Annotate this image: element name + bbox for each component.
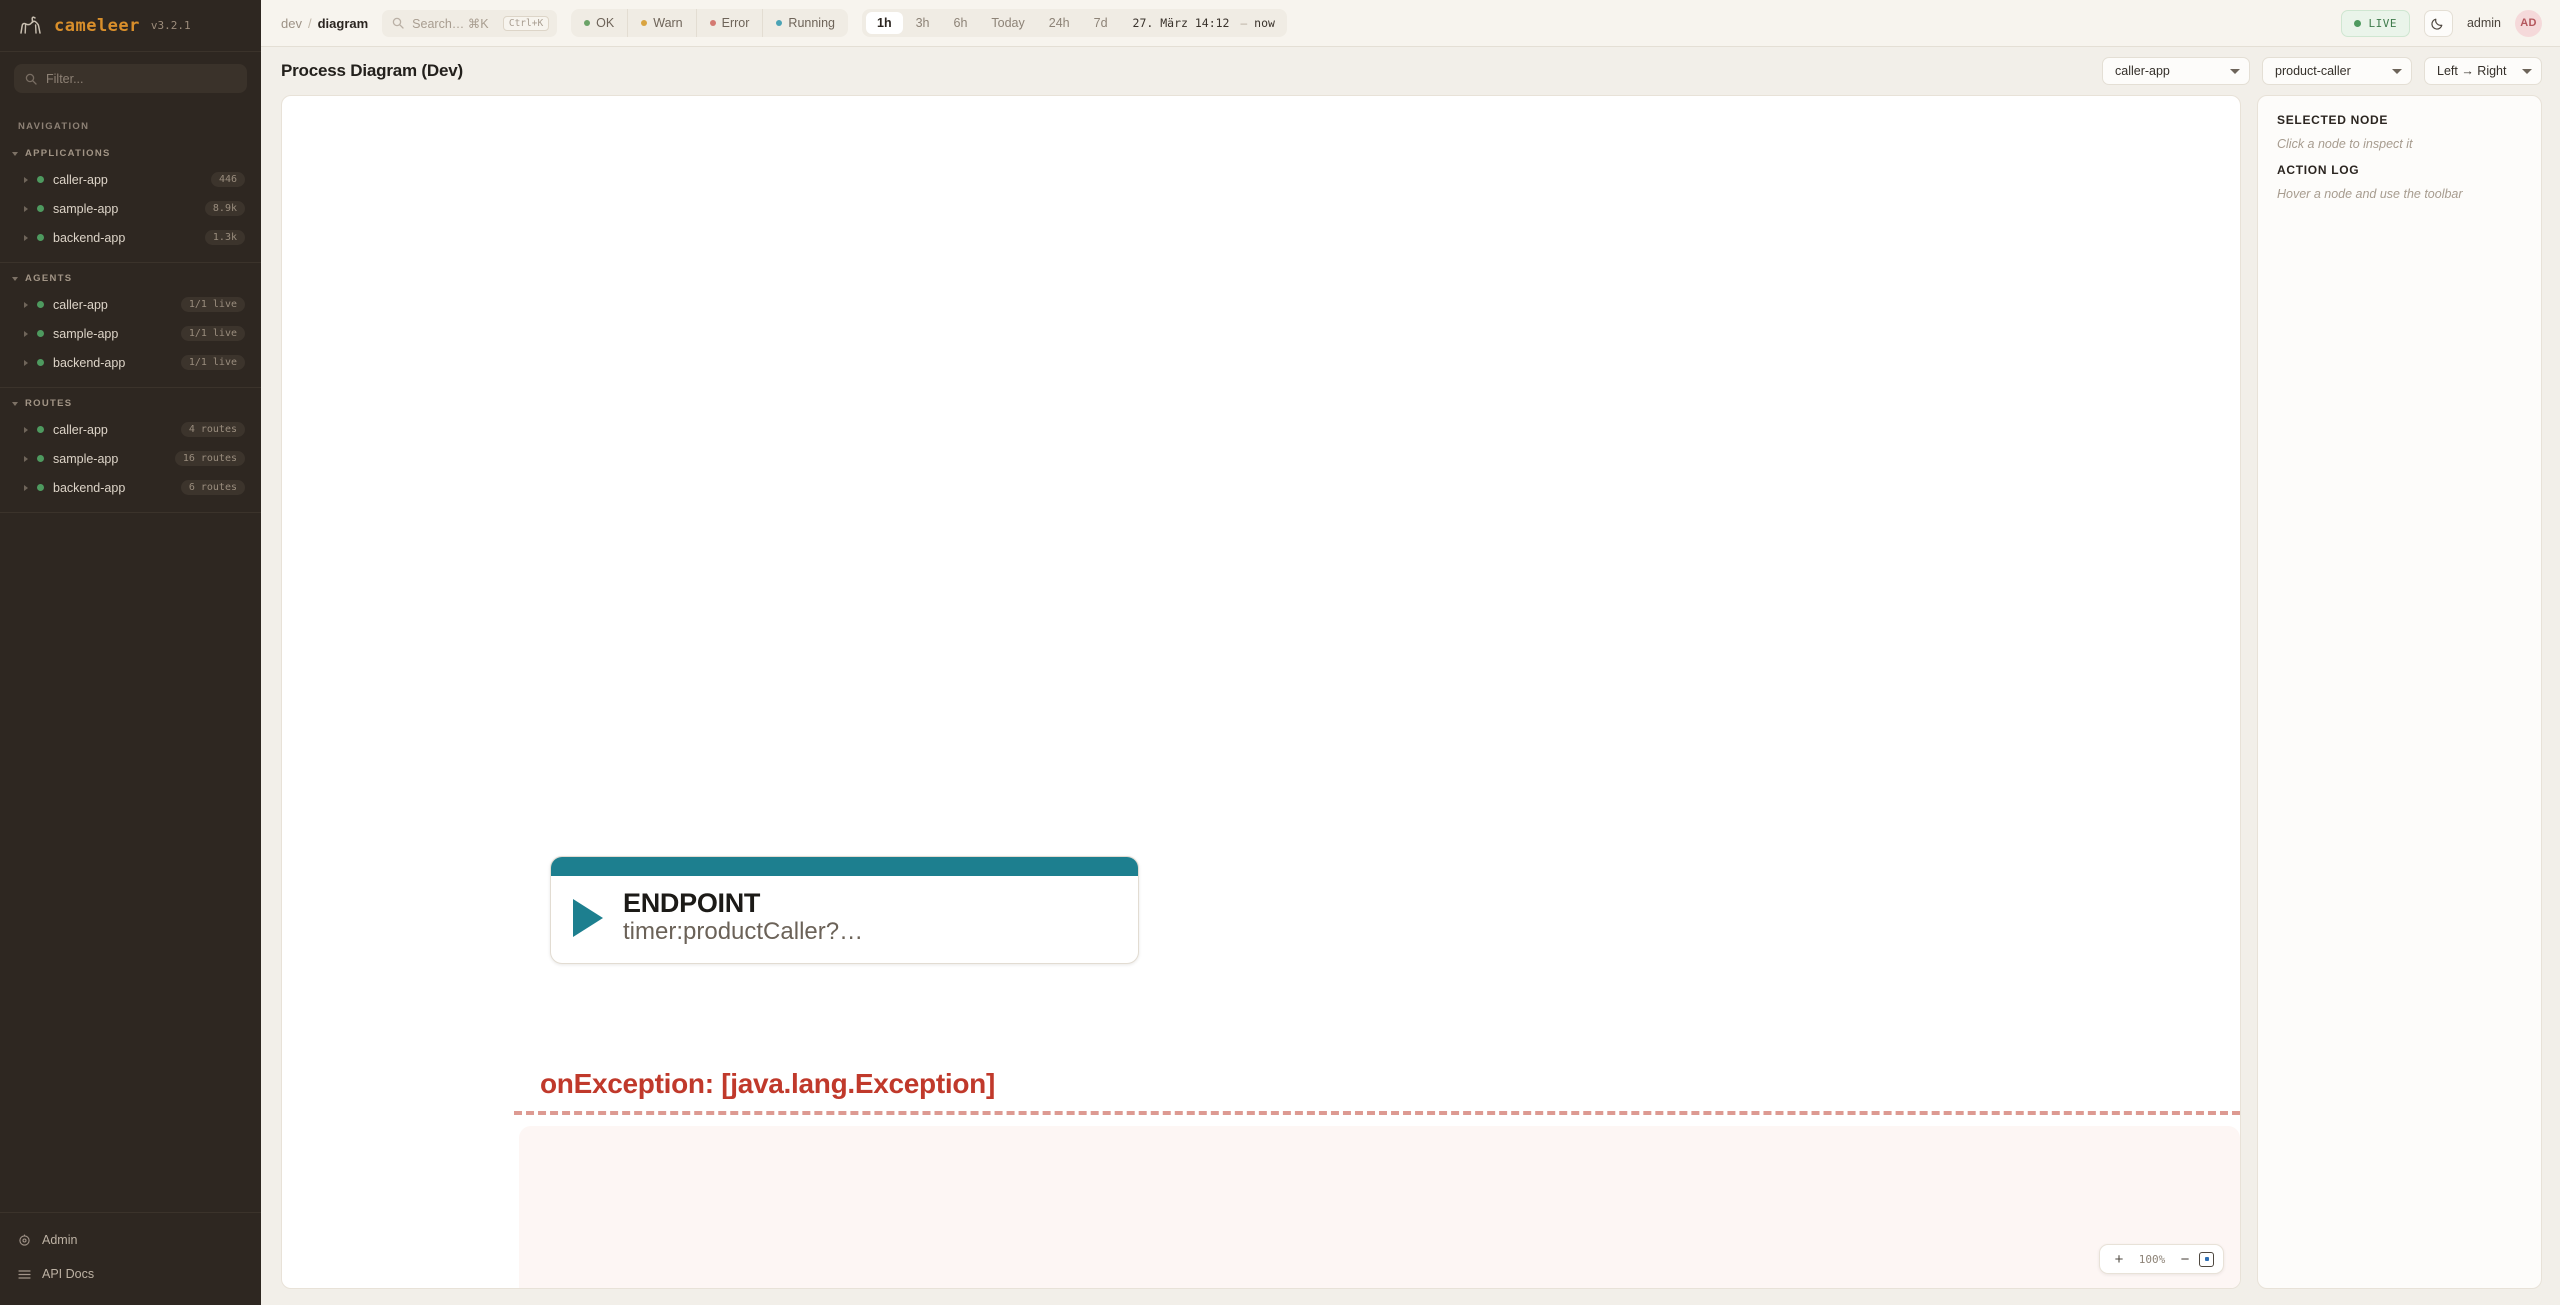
node-header (551, 857, 1138, 876)
live-label: LIVE (2368, 17, 2397, 30)
range-24h[interactable]: 24h (1038, 12, 1081, 34)
sidebar-filter-wrap (0, 52, 261, 103)
sidebar-filter[interactable] (14, 64, 247, 93)
sidebar-group-routes: ROUTES caller-app 4 routes sample-app 16… (0, 388, 261, 513)
breadcrumb-root[interactable]: dev (281, 16, 302, 31)
sidebar-item-admin[interactable]: Admin (0, 1223, 261, 1257)
direction-select[interactable]: Left → Right (2424, 57, 2542, 85)
status-filter-label: OK (596, 16, 614, 30)
group-label: AGENTS (25, 273, 72, 284)
chevron-right-icon (24, 360, 28, 366)
node-kind: ENDPOINT (623, 889, 863, 917)
node-body: ENDPOINT timer:productCaller?… (551, 876, 1138, 963)
chevron-right-icon (24, 331, 28, 337)
item-badge: 1/1 live (181, 297, 245, 312)
page-title: Process Diagram (Dev) (281, 61, 463, 81)
breadcrumb-separator: / (308, 16, 312, 31)
sidebar-item-routes-backend-app[interactable]: backend-app 6 routes (0, 473, 261, 502)
chevron-down-icon (12, 277, 18, 281)
item-badge: 6 routes (181, 480, 245, 495)
item-label: sample-app (53, 452, 175, 466)
status-dot (37, 234, 44, 241)
exception-region-fill (519, 1126, 2240, 1288)
diagram-canvas[interactable]: onException: [java.lang.Exception] ENDPO… (281, 95, 2241, 1289)
exception-region-boundary (514, 1111, 2240, 1115)
sidebar-item-routes-sample-app[interactable]: sample-app 16 routes (0, 444, 261, 473)
item-badge: 4 routes (181, 422, 245, 437)
group-header-agents[interactable]: AGENTS (0, 263, 261, 290)
api-docs-label: API Docs (42, 1267, 94, 1281)
route-select[interactable]: product-caller (2262, 57, 2412, 85)
logo-version: v3.2.1 (151, 19, 191, 32)
application-select[interactable]: caller-app (2102, 57, 2250, 85)
status-dot (37, 484, 44, 491)
live-dot (2354, 20, 2361, 27)
status-filter-label: Running (788, 16, 835, 30)
chevron-down-icon (12, 152, 18, 156)
node-uri: timer:productCaller?… (623, 917, 863, 947)
status-filter-warn[interactable]: Warn (628, 9, 696, 37)
status-dot (37, 455, 44, 462)
camel-icon (18, 14, 44, 38)
node-endpoint[interactable]: ENDPOINT timer:productCaller?… (550, 856, 1139, 964)
sidebar-item-routes-caller-app[interactable]: caller-app 4 routes (0, 415, 261, 444)
sidebar-item-applications-caller-app[interactable]: caller-app 446 (0, 165, 261, 194)
sidebar: cameleer v3.2.1 NAVIGATION APPLICATIONS (0, 0, 261, 1305)
item-label: caller-app (53, 173, 211, 187)
range-dash: – (1235, 16, 1252, 30)
main-area: dev / diagram Search… ⌘K Ctrl+K OK (261, 0, 2560, 1305)
status-dot-ok (584, 20, 590, 26)
range-6h[interactable]: 6h (943, 12, 979, 34)
page-header: Process Diagram (Dev) caller-app product… (261, 47, 2560, 95)
filter-input[interactable] (46, 72, 236, 86)
moon-icon (2431, 16, 2445, 30)
group-header-routes[interactable]: ROUTES (0, 388, 261, 415)
live-status-badge[interactable]: LIVE (2341, 10, 2410, 37)
exception-label: onException: [java.lang.Exception] (540, 1068, 995, 1100)
breadcrumb[interactable]: dev / diagram (281, 16, 368, 31)
item-badge: 1.3k (205, 230, 245, 245)
logo-text: cameleer (54, 16, 140, 36)
range-1h[interactable]: 1h (866, 12, 903, 34)
chevron-down-icon (2522, 69, 2532, 74)
item-label: backend-app (53, 481, 181, 495)
chevron-right-icon (24, 177, 28, 183)
zoom-level: 100% (2133, 1253, 2171, 1266)
inspector-panel: SELECTED NODE Click a node to inspect it… (2257, 95, 2542, 1289)
selected-node-title: SELECTED NODE (2277, 113, 2522, 127)
status-filter-label: Warn (653, 16, 682, 30)
range-3h[interactable]: 3h (905, 12, 941, 34)
group-label: APPLICATIONS (25, 148, 111, 159)
application-select-value: caller-app (2115, 64, 2170, 78)
item-label: backend-app (53, 231, 205, 245)
action-log-title: ACTION LOG (2277, 163, 2522, 177)
item-badge: 8.9k (205, 201, 245, 216)
navigation-heading: NAVIGATION (0, 103, 261, 138)
breadcrumb-current: diagram (318, 16, 369, 31)
chevron-down-icon (2230, 69, 2240, 74)
sidebar-footer: Admin API Docs (0, 1212, 261, 1305)
chevron-right-icon (24, 302, 28, 308)
status-filter-ok[interactable]: OK (571, 9, 628, 37)
avatar[interactable]: AD (2515, 10, 2542, 37)
sidebar-item-api-docs[interactable]: API Docs (0, 1257, 261, 1291)
status-filter-label: Error (722, 16, 750, 30)
search-icon (392, 17, 404, 29)
gear-icon (18, 1234, 31, 1247)
chevron-right-icon (24, 206, 28, 212)
search-placeholder: Search… ⌘K (412, 16, 495, 31)
sidebar-item-agents-caller-app[interactable]: caller-app 1/1 live (0, 290, 261, 319)
item-badge: 1/1 live (181, 355, 245, 370)
route-select-value: product-caller (2275, 64, 2351, 78)
zoom-in-button[interactable]: + (2109, 1248, 2129, 1270)
status-dot-running (776, 20, 782, 26)
status-filter-group: OK Warn Error Running (571, 9, 848, 37)
search-icon (25, 73, 37, 85)
zoom-out-button[interactable]: − (2175, 1248, 2195, 1270)
direction-select-value: Left → Right (2437, 64, 2506, 78)
chevron-down-icon (2392, 69, 2402, 74)
range-to: now (1254, 16, 1283, 30)
status-dot (37, 176, 44, 183)
chevron-right-icon (24, 485, 28, 491)
top-toolbar: dev / diagram Search… ⌘K Ctrl+K OK (261, 0, 2560, 47)
status-dot (37, 330, 44, 337)
item-label: sample-app (53, 202, 205, 216)
play-icon (573, 899, 603, 937)
status-dot (37, 426, 44, 433)
chevron-down-icon (12, 402, 18, 406)
item-label: sample-app (53, 327, 181, 341)
range-7d[interactable]: 7d (1083, 12, 1119, 34)
sidebar-group-agents: AGENTS caller-app 1/1 live sample-app 1/… (0, 263, 261, 388)
theme-toggle-button[interactable] (2424, 10, 2453, 37)
status-filter-error[interactable]: Error (697, 9, 764, 37)
sidebar-group-applications: APPLICATIONS caller-app 446 sample-app 8… (0, 138, 261, 263)
search-input[interactable]: Search… ⌘K Ctrl+K (382, 10, 557, 37)
item-label: caller-app (53, 298, 181, 312)
item-badge: 446 (211, 172, 245, 187)
item-label: caller-app (53, 423, 181, 437)
sidebar-item-agents-sample-app[interactable]: sample-app 1/1 live (0, 319, 261, 348)
status-dot-error (710, 20, 716, 26)
status-dot (37, 301, 44, 308)
sidebar-item-applications-backend-app[interactable]: backend-app 1.3k (0, 223, 261, 252)
item-label: backend-app (53, 356, 181, 370)
range-today[interactable]: Today (980, 12, 1035, 34)
content-area: onException: [java.lang.Exception] ENDPO… (261, 95, 2560, 1305)
range-from: 27. März 14:12 (1121, 16, 1234, 30)
time-range-group: 1h 3h 6h Today 24h 7d 27. März 14:12 – n… (862, 9, 1287, 37)
group-label: ROUTES (25, 398, 72, 409)
chevron-right-icon (24, 427, 28, 433)
sidebar-item-applications-sample-app[interactable]: sample-app 8.9k (0, 194, 261, 223)
selected-node-empty: Click a node to inspect it (2277, 137, 2522, 151)
item-badge: 16 routes (175, 451, 245, 466)
fit-to-view-button[interactable] (2199, 1252, 2214, 1267)
zoom-controls: + 100% − (2099, 1244, 2224, 1274)
chevron-right-icon (24, 456, 28, 462)
chevron-right-icon (24, 235, 28, 241)
list-icon (18, 1268, 31, 1281)
group-header-applications[interactable]: APPLICATIONS (0, 138, 261, 165)
admin-label: Admin (42, 1233, 77, 1247)
search-shortcut-badge: Ctrl+K (503, 16, 549, 31)
sidebar-item-agents-backend-app[interactable]: backend-app 1/1 live (0, 348, 261, 377)
user-name: admin (2467, 16, 2501, 30)
sidebar-logo[interactable]: cameleer v3.2.1 (0, 0, 261, 52)
status-filter-running[interactable]: Running (763, 9, 848, 37)
node-text: ENDPOINT timer:productCaller?… (623, 889, 863, 947)
item-badge: 1/1 live (181, 326, 245, 341)
status-dot-warn (641, 20, 647, 26)
app-root: cameleer v3.2.1 NAVIGATION APPLICATIONS (0, 0, 2560, 1305)
status-dot (37, 205, 44, 212)
action-log-empty: Hover a node and use the toolbar (2277, 187, 2522, 201)
fit-to-view-icon (2205, 1257, 2209, 1261)
status-dot (37, 359, 44, 366)
sidebar-spacer (0, 513, 261, 1212)
